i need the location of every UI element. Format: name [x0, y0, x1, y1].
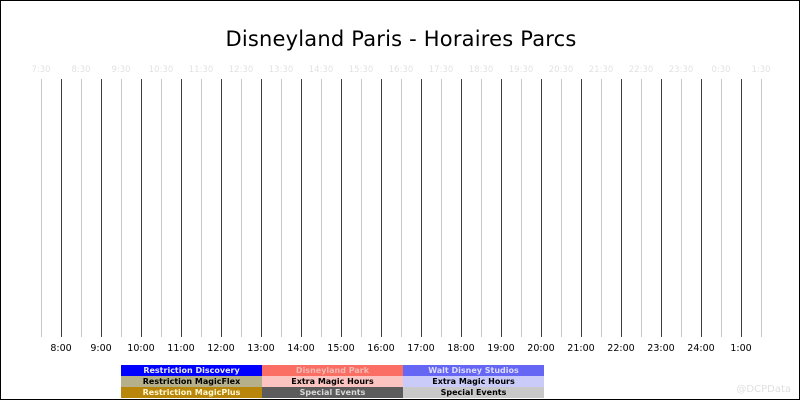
axis-tick-label-top: 14:30 [309, 65, 334, 75]
axis-tick-label-bottom: 1:00 [730, 343, 751, 354]
legend-column-walt-disney-studios: Walt Disney StudiosExtra Magic HoursSpec… [403, 365, 544, 398]
axis-tick-label-top: 16:30 [389, 65, 414, 75]
axis-tick-label-bottom: 19:00 [487, 343, 514, 354]
gridline-half [641, 79, 642, 337]
axis-tick-label-top: 13:30 [269, 65, 294, 75]
axis-tick-label-bottom: 13:00 [247, 343, 274, 354]
axis-tick-label-top: 17:30 [429, 65, 454, 75]
gridline-hour [661, 79, 662, 337]
axis-tick-label-top: 21:30 [589, 65, 614, 75]
axis-tick-label-bottom: 22:00 [607, 343, 634, 354]
axis-tick-label-top: 15:30 [349, 65, 374, 75]
axis-tick-label-bottom: 8:00 [50, 343, 71, 354]
axis-tick-label-top: 10:30 [149, 65, 174, 75]
axis-tick-label-top: 1:30 [751, 65, 770, 75]
gridline-half [121, 79, 122, 337]
gridline-hour [301, 79, 302, 337]
gridline-hour [581, 79, 582, 337]
legend-item[interactable]: Extra Magic Hours [262, 376, 403, 387]
gridline-hour [341, 79, 342, 337]
gridline-half [481, 79, 482, 337]
axis-tick-label-top: 12:30 [229, 65, 254, 75]
gridline-half [241, 79, 242, 337]
axis-tick-label-bottom: 16:00 [367, 343, 394, 354]
axis-tick-label-bottom: 11:00 [167, 343, 194, 354]
legend-item[interactable]: Special Events [403, 387, 544, 398]
axis-tick-label-bottom: 17:00 [407, 343, 434, 354]
legend-column-disneyland-park: Disneyland ParkExtra Magic HoursSpecial … [262, 365, 403, 398]
legend-column-restrictions: Restriction DiscoveryRestriction MagicFl… [121, 365, 262, 398]
gridline-hour [181, 79, 182, 337]
chart-legend: Restriction DiscoveryRestriction MagicFl… [121, 365, 544, 398]
gridline-hour [701, 79, 702, 337]
axis-tick-label-top: 23:30 [669, 65, 694, 75]
axis-tick-label-top: 22:30 [629, 65, 654, 75]
gridline-half [201, 79, 202, 337]
gridline-half [41, 79, 42, 337]
axis-tick-label-top: 8:30 [71, 65, 90, 75]
axis-tick-label-top: 18:30 [469, 65, 494, 75]
gridline-half [81, 79, 82, 337]
gridline-hour [381, 79, 382, 337]
gridline-half [361, 79, 362, 337]
gridline-half [441, 79, 442, 337]
axis-tick-label-top: 9:30 [111, 65, 130, 75]
axis-tick-label-bottom: 15:00 [327, 343, 354, 354]
gridline-hour [501, 79, 502, 337]
axis-tick-label-top: 19:30 [509, 65, 534, 75]
legend-item[interactable]: Restriction MagicFlex [121, 376, 262, 387]
legend-item[interactable]: Disneyland Park [262, 365, 403, 376]
gridline-half [721, 79, 722, 337]
legend-item[interactable]: Restriction Discovery [121, 365, 262, 376]
axis-tick-label-bottom: 10:00 [127, 343, 154, 354]
gridline-hour [741, 79, 742, 337]
gridline-half [761, 79, 762, 337]
legend-item[interactable]: Extra Magic Hours [403, 376, 544, 387]
gridline-half [161, 79, 162, 337]
gridline-hour [461, 79, 462, 337]
gridline-hour [101, 79, 102, 337]
watermark: @DCPData [736, 384, 791, 395]
axis-tick-label-bottom: 9:00 [90, 343, 111, 354]
legend-item[interactable]: Walt Disney Studios [403, 365, 544, 376]
plot-area [21, 79, 781, 337]
page-title: Disneyland Paris - Horaires Parcs [1, 27, 800, 51]
axis-tick-label-bottom: 23:00 [647, 343, 674, 354]
gridline-hour [61, 79, 62, 337]
gridline-half [401, 79, 402, 337]
chart-figure: Disneyland Paris - Horaires Parcs 7:308:… [0, 0, 800, 400]
axis-tick-label-top: 20:30 [549, 65, 574, 75]
axis-tick-label-bottom: 24:00 [687, 343, 714, 354]
axis-tick-label-top: 0:30 [711, 65, 730, 75]
axis-tick-label-bottom: 20:00 [527, 343, 554, 354]
gridline-hour [621, 79, 622, 337]
axis-tick-label-top: 7:30 [31, 65, 50, 75]
gridline-hour [141, 79, 142, 337]
legend-item[interactable]: Restriction MagicPlus [121, 387, 262, 398]
gridline-half [321, 79, 322, 337]
gridline-hour [541, 79, 542, 337]
gridline-hour [421, 79, 422, 337]
gridline-hour [221, 79, 222, 337]
axis-tick-label-bottom: 21:00 [567, 343, 594, 354]
axis-tick-label-bottom: 12:00 [207, 343, 234, 354]
gridline-half [681, 79, 682, 337]
gridline-half [521, 79, 522, 337]
gridline-half [601, 79, 602, 337]
gridline-half [281, 79, 282, 337]
gridline-hour [261, 79, 262, 337]
axis-tick-label-bottom: 14:00 [287, 343, 314, 354]
axis-tick-label-bottom: 18:00 [447, 343, 474, 354]
gridline-half [561, 79, 562, 337]
axis-tick-label-top: 11:30 [189, 65, 214, 75]
legend-item[interactable]: Special Events [262, 387, 403, 398]
